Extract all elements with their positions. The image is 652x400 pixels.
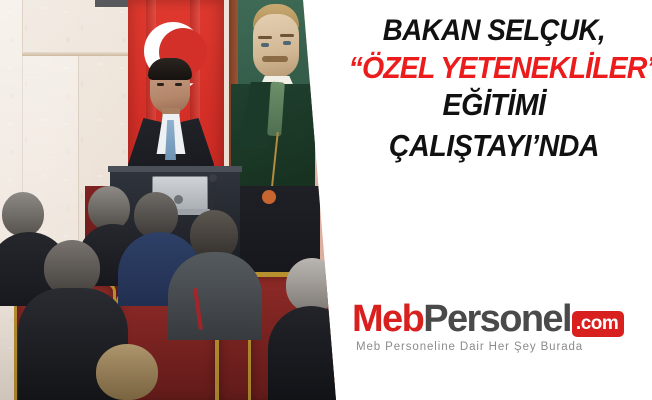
audience-shoulders (268, 306, 340, 400)
portrait-face (253, 14, 299, 78)
logo-wordmark: MebPersonel.com (352, 300, 642, 338)
headline-line-1: BAKAN SELÇUK, (349, 16, 640, 46)
laptop-logo-icon (174, 195, 183, 204)
audience-shoulders (168, 252, 262, 340)
podium-top (108, 166, 242, 172)
board-crest-icon (262, 190, 276, 204)
portrait-eye (261, 43, 269, 47)
photo-scene (0, 0, 340, 400)
portrait-brow (280, 34, 294, 37)
speaker-hair (148, 58, 192, 80)
portrait-eye (283, 41, 291, 45)
logo-tagline: Meb Personeline Dair Her Şey Burada (356, 341, 642, 353)
wall-ledge (22, 52, 140, 56)
portrait-moustache (262, 56, 288, 62)
logo-com-badge: .com (572, 311, 624, 337)
headline-line-3: EĞİTİMİ (349, 89, 640, 120)
article-photo (0, 0, 340, 400)
headline-line-4: ÇALIŞTAYI’NDA (349, 130, 640, 161)
audience-head (2, 192, 44, 236)
site-logo[interactable]: MebPersonel.com Meb Personeline Dair Her… (352, 300, 642, 353)
speaker-eye (157, 83, 164, 86)
microphone-head-icon (209, 174, 217, 182)
article-headline: BAKAN SELÇUK, “ÖZEL YETENEKLİLER” EĞİTİM… (336, 12, 652, 161)
audience-head (134, 192, 178, 238)
speaker-eye (175, 83, 182, 86)
headline-line-2: “ÖZEL YETENEKLİLER” (349, 52, 640, 83)
news-card: BAKAN SELÇUK, “ÖZEL YETENEKLİLER” EĞİTİM… (0, 0, 652, 400)
logo-personel-text: Personel (423, 300, 571, 338)
portrait-brow (258, 36, 272, 39)
audience-head (96, 344, 158, 400)
logo-meb-text: Meb (352, 300, 423, 338)
audience-head (286, 258, 338, 312)
